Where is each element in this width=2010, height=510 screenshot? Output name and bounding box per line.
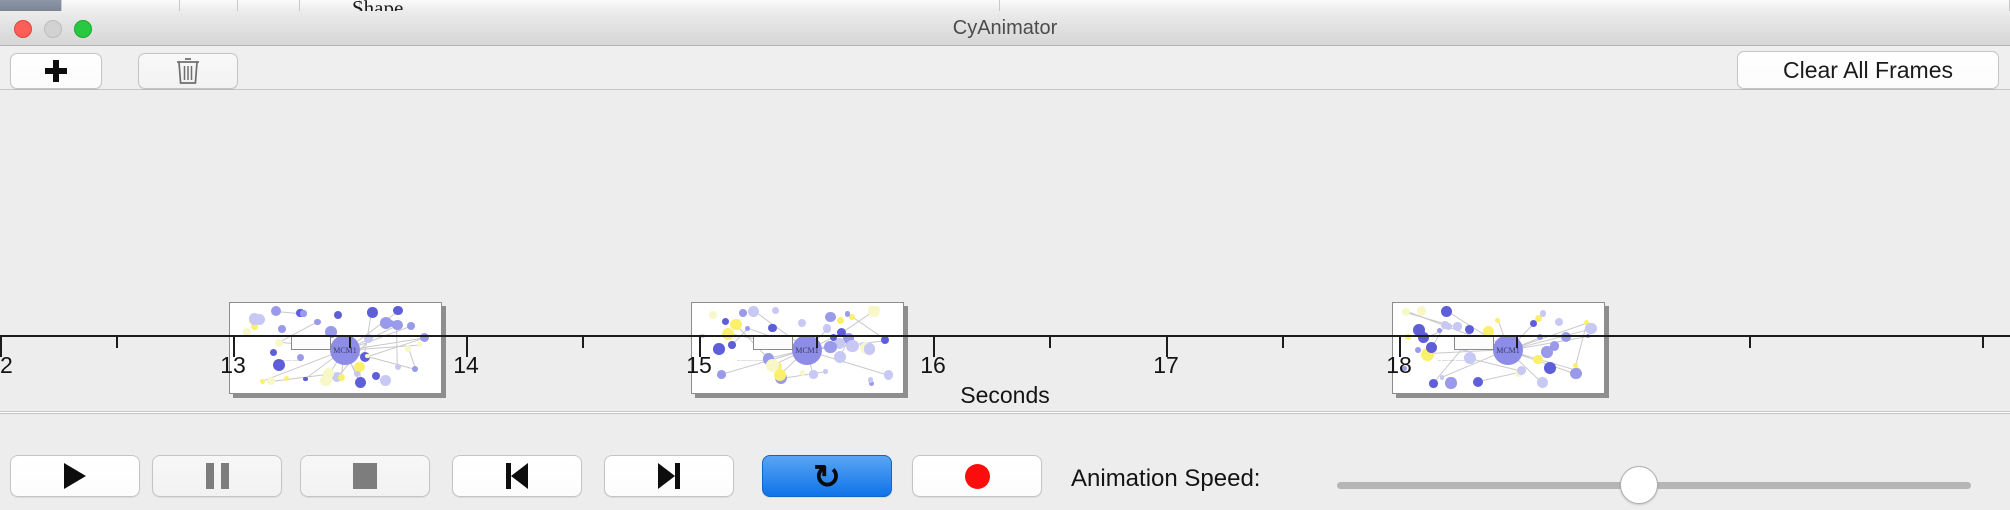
network-node	[772, 307, 779, 314]
network-node	[388, 320, 394, 326]
background-tab	[1000, 0, 2010, 11]
background-tab	[180, 0, 238, 11]
network-node	[824, 341, 836, 353]
network-node	[739, 309, 747, 317]
network-node	[1417, 306, 1427, 316]
page-title: CyAnimator	[0, 11, 2010, 46]
record-button[interactable]	[912, 455, 1042, 497]
axis-tick-minor	[1516, 337, 1518, 348]
network-hub-node: MCM1	[1493, 335, 1523, 365]
network-callout	[1454, 336, 1494, 350]
network-thumbnail-image: MCM1— —— —— ———	[233, 306, 438, 390]
axis-tick-label: 12	[0, 352, 30, 379]
network-node	[748, 306, 759, 317]
background-tab	[0, 0, 62, 11]
axis-tick-label: 14	[436, 352, 496, 379]
network-node	[1418, 332, 1429, 343]
network-node	[1544, 362, 1556, 374]
network-edge	[1478, 372, 1519, 382]
playback-bar: ↻ Animation Speed:	[0, 413, 2010, 510]
stop-icon	[353, 463, 377, 489]
network-node	[1550, 341, 1559, 350]
network-node	[868, 306, 881, 317]
axis-tick-minor	[349, 337, 351, 348]
network-node	[275, 339, 283, 347]
network-node	[300, 310, 306, 316]
axis-tick-minor	[1282, 337, 1284, 348]
play-icon	[64, 463, 86, 489]
network-node	[278, 325, 286, 333]
frame-thumbnail[interactable]: MCM1— —— —— ———	[1392, 302, 1605, 394]
network-node	[1441, 321, 1449, 329]
toolbar: Clear All Frames	[0, 46, 2010, 90]
network-node	[1535, 315, 1542, 322]
axis-tick-label: 16	[903, 352, 963, 379]
network-node	[405, 345, 412, 352]
network-node	[367, 307, 378, 318]
axis-tick-label: 13	[203, 352, 263, 379]
network-node	[823, 324, 832, 333]
network-node	[766, 359, 779, 372]
background-window-strip: Shape	[0, 0, 2010, 11]
network-node	[823, 369, 828, 374]
network-node	[249, 313, 261, 325]
network-node	[1441, 306, 1452, 317]
network-node	[1585, 323, 1597, 335]
network-node	[407, 322, 415, 330]
axis-tick-minor	[1049, 337, 1051, 348]
axis-tick-minor	[582, 337, 584, 348]
network-node	[1440, 375, 1445, 380]
animation-speed-slider-thumb[interactable]	[1620, 466, 1658, 504]
network-node	[393, 306, 402, 315]
cyanimator-window: Shape CyAnimator Clear All Frames MCM1— …	[0, 0, 2010, 510]
network-node	[768, 324, 777, 333]
background-tab	[360, 0, 1000, 11]
network-node	[372, 372, 380, 380]
clear-all-frames-button[interactable]: Clear All Frames	[1737, 51, 1999, 89]
network-node	[837, 317, 844, 324]
stop-button[interactable]	[300, 455, 430, 497]
plus-icon	[45, 60, 67, 82]
network-annotation: — —— —— ———	[1438, 358, 1465, 362]
axis-tick-label: 15	[669, 352, 729, 379]
network-node	[334, 311, 342, 319]
axis-title: Seconds	[0, 382, 2010, 409]
network-node	[1555, 318, 1563, 326]
pause-button[interactable]	[152, 455, 282, 497]
pause-icon	[206, 463, 229, 489]
network-annotation: — —— —— ———	[737, 358, 764, 362]
network-callout	[753, 336, 793, 350]
network-node	[884, 370, 894, 380]
network-node	[846, 340, 859, 353]
delete-frame-button[interactable]	[138, 53, 238, 89]
network-node	[864, 343, 876, 355]
network-node	[709, 311, 717, 319]
skip-forward-icon	[658, 463, 680, 489]
background-window-label: Shape	[352, 0, 403, 11]
timeline-panel[interactable]: MCM1— —— —— ———MCM1— —— —— ———MCM1— —— —…	[0, 90, 2010, 412]
network-node	[849, 314, 855, 320]
frames-area[interactable]: MCM1— —— —— ———MCM1— —— —— ———MCM1— —— —…	[0, 90, 2010, 308]
trash-icon	[175, 56, 201, 86]
network-node	[845, 311, 850, 316]
axis-tick-label: 18	[1369, 352, 1429, 379]
background-tab	[238, 0, 300, 11]
network-callout	[291, 336, 331, 350]
loop-button[interactable]: ↻	[762, 455, 892, 497]
network-node	[809, 370, 817, 378]
loop-icon: ↻	[813, 460, 841, 493]
frame-thumbnail[interactable]: MCM1— —— —— ———	[229, 302, 442, 394]
axis-tick-minor	[816, 337, 818, 348]
network-node	[417, 342, 422, 347]
network-node	[722, 318, 729, 325]
network-node	[881, 336, 889, 344]
network-node	[745, 326, 750, 331]
animation-speed-label: Animation Speed:	[1071, 465, 1260, 493]
add-frame-button[interactable]	[10, 53, 102, 89]
network-node	[314, 319, 321, 326]
network-node	[1402, 308, 1410, 316]
previous-frame-button[interactable]	[452, 455, 582, 497]
network-node	[338, 374, 345, 381]
background-tab	[62, 0, 180, 11]
network-node	[825, 312, 836, 323]
timeline-axis	[0, 335, 2010, 337]
network-node	[354, 371, 360, 377]
network-node	[303, 377, 307, 381]
network-node	[1570, 368, 1581, 379]
network-node	[1453, 322, 1461, 330]
network-node	[412, 366, 418, 372]
network-node	[722, 328, 734, 340]
play-button[interactable]	[10, 455, 140, 497]
axis-tick-minor	[116, 337, 118, 348]
background-tab	[300, 0, 360, 11]
network-hub-node: MCM1	[330, 335, 360, 365]
network-node	[1437, 328, 1442, 333]
network-node	[798, 319, 806, 327]
network-node	[800, 370, 805, 375]
network-node	[395, 364, 401, 370]
network-annotation: — —— —— ———	[275, 358, 302, 362]
axis-tick-minor	[1982, 337, 1984, 348]
axis-tick-label: 17	[1136, 352, 1196, 379]
skip-back-icon	[506, 463, 528, 489]
axis-tick-minor	[1749, 337, 1751, 348]
network-node	[728, 341, 736, 349]
network-node	[270, 349, 278, 357]
network-node	[1465, 325, 1474, 334]
next-frame-button[interactable]	[604, 455, 734, 497]
title-bar: CyAnimator	[0, 11, 2010, 46]
network-node	[284, 376, 290, 382]
frame-thumbnail[interactable]: MCM1— —— —— ———	[691, 302, 904, 394]
record-icon	[965, 464, 990, 489]
network-node	[271, 306, 282, 316]
network-node	[1517, 366, 1526, 375]
